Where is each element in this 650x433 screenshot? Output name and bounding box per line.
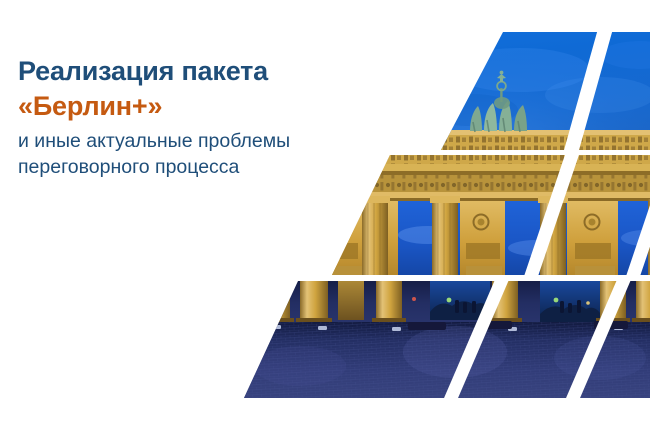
title-line-primary: Реализация пакета	[18, 56, 378, 88]
title-block: Реализация пакета «Берлин+» и иные актуа…	[18, 56, 378, 180]
quadriga-statue	[470, 71, 527, 132]
ground-uplights	[272, 325, 623, 331]
title-line-accent: «Берлин+»	[18, 91, 378, 123]
gate-columns	[360, 196, 650, 291]
subtitle-text: и иные актуальные проблемы переговорного…	[18, 128, 348, 180]
collage-band-bottom	[230, 268, 650, 412]
distant-lights	[412, 297, 590, 305]
pedestrian-silhouettes	[455, 300, 581, 313]
collage-band-top	[330, 18, 650, 168]
slide-root: Реализация пакета «Берлин+» и иные актуа…	[0, 0, 650, 433]
gate-column-bases	[258, 275, 650, 325]
